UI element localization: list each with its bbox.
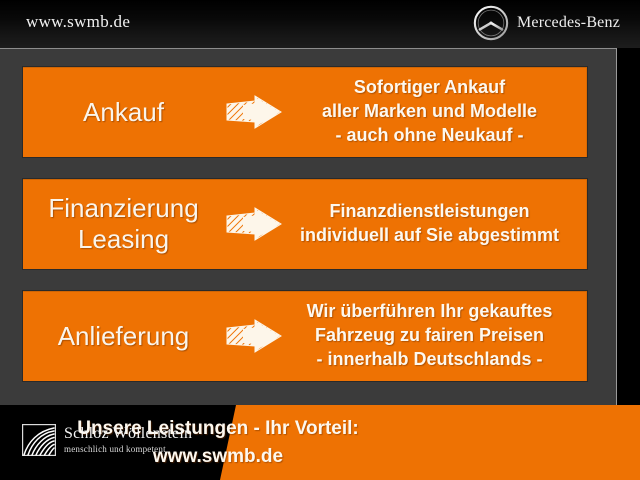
company-name: Schloz Wöllenstein — [64, 426, 192, 442]
service-title-line: Ankauf — [83, 97, 164, 127]
company-tagline: menschlich und kompetent — [64, 445, 192, 454]
service-description-line: aller Marken und Modelle — [290, 100, 569, 124]
service-panel-finanzierung-leasing[interactable]: Finanzierung Leasing Finanzdienstleistun… — [22, 178, 588, 270]
service-panel-ankauf[interactable]: Ankauf Sofortiger Ankauf aller Marken un… — [22, 66, 588, 158]
service-panel-anlieferung[interactable]: Anlieferung Wir überführen Ihr gekauftes… — [22, 290, 588, 382]
arrow-right-icon — [218, 207, 290, 241]
service-title-line: Leasing — [29, 224, 218, 255]
schloz-woellenstein-text: Schloz Wöllenstein menschlich und kompet… — [64, 426, 192, 454]
header-bar: www.swmb.de — [0, 0, 640, 48]
mercedes-benz-logo: Mercedes-Benz — [472, 4, 620, 42]
schloz-road-mark-icon — [22, 424, 56, 456]
service-description: Sofortiger Ankauf aller Marken und Model… — [290, 76, 587, 147]
service-description-line: individuell auf Sie abgestimmt — [290, 224, 569, 248]
service-description-line: - auch ohne Neukauf - — [290, 124, 569, 148]
service-description: Finanzdienstleistungen individuell auf S… — [290, 200, 587, 248]
arrow-right-icon — [218, 319, 290, 353]
mercedes-benz-wordmark: Mercedes-Benz — [517, 14, 620, 32]
header-website-url: www.swmb.de — [26, 12, 130, 32]
schloz-woellenstein-logo: Schloz Wöllenstein menschlich und kompet… — [22, 424, 192, 456]
mercedes-star-icon — [472, 4, 510, 42]
service-title-line: Anlieferung — [58, 321, 190, 351]
slide-root: www.swmb.de — [0, 0, 640, 480]
service-title: Finanzierung Leasing — [23, 193, 218, 254]
service-description-line: Finanzdienstleistungen — [290, 200, 569, 224]
service-title-line: Finanzierung — [29, 193, 218, 224]
service-description-line: Sofortiger Ankauf — [290, 76, 569, 100]
service-description-line: Wir überführen Ihr gekauftes — [290, 300, 569, 324]
service-description-line: Fahrzeug zu fairen Preisen — [290, 324, 569, 348]
service-title: Anlieferung — [23, 321, 218, 352]
service-description: Wir überführen Ihr gekauftes Fahrzeug zu… — [290, 300, 587, 371]
arrow-right-icon — [218, 95, 290, 129]
service-title: Ankauf — [23, 97, 218, 128]
service-description-line: - innerhalb Deutschlands - — [290, 348, 569, 372]
